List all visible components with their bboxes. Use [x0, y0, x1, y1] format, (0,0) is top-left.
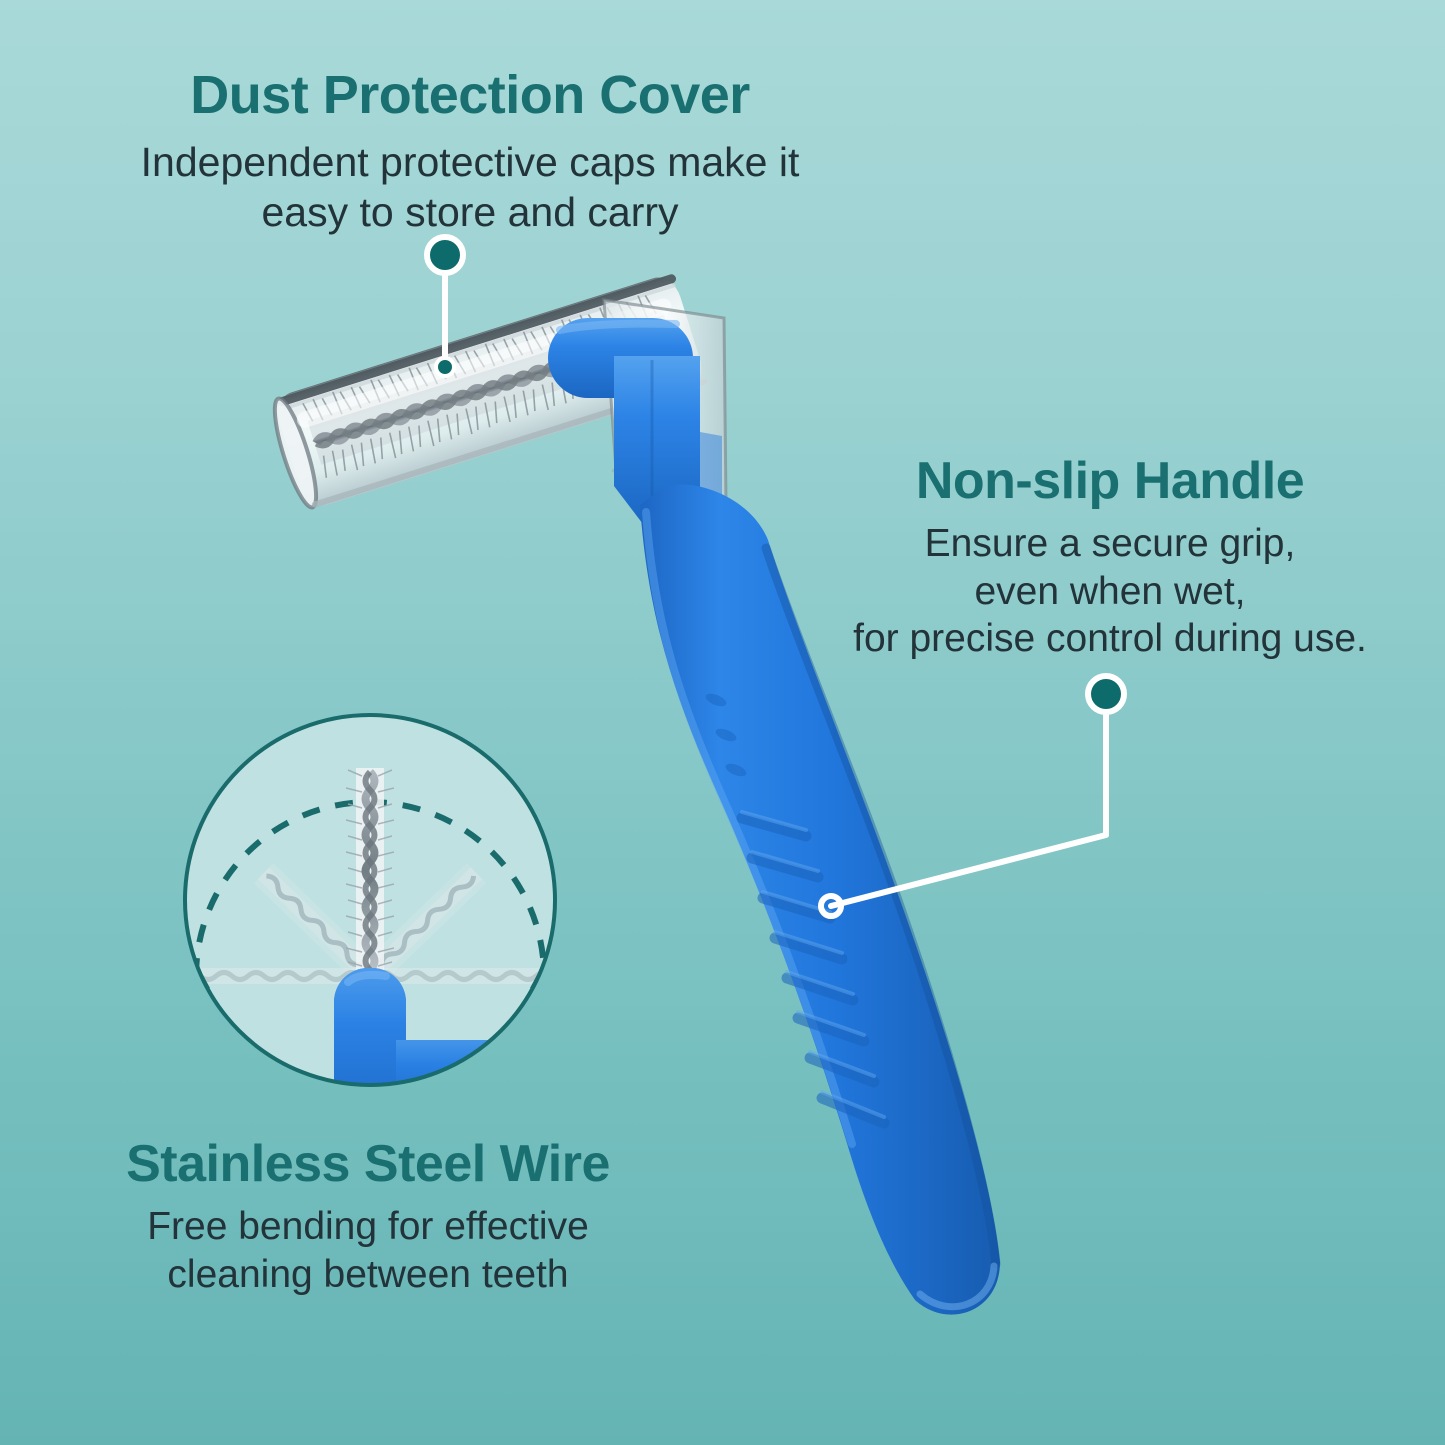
callout-dust-protection-cover: Dust Protection Cover Independent protec…: [0, 68, 940, 237]
callout-non-slip-handle: Non-slip Handle Ensure a secure grip, ev…: [775, 455, 1445, 663]
callout-stainless-steel-wire: Stainless Steel Wire Free bending for ef…: [28, 1138, 708, 1298]
wire-body-line-1: Free bending for effective: [28, 1203, 708, 1251]
dust-cover-title: Dust Protection Cover: [0, 68, 940, 123]
callout-leader-dust: [427, 237, 463, 376]
callout-leader-handle: [821, 676, 1124, 916]
infographic-canvas: Dust Protection Cover Independent protec…: [0, 0, 1445, 1445]
handle-title: Non-slip Handle: [775, 455, 1445, 508]
dust-cover-body: Independent protective caps make it easy…: [0, 137, 940, 237]
wire-body: Free bending for effective cleaning betw…: [28, 1203, 708, 1298]
handle-body-line-2: even when wet,: [775, 568, 1445, 616]
handle-body: Ensure a secure grip, even when wet, for…: [775, 520, 1445, 663]
wire-body-line-2: cleaning between teeth: [28, 1251, 708, 1299]
wire-title: Stainless Steel Wire: [28, 1138, 708, 1191]
dust-cover-body-line-2: easy to store and carry: [0, 187, 940, 237]
handle-body-line-3: for precise control during use.: [775, 615, 1445, 663]
handle-body-line-1: Ensure a secure grip,: [775, 520, 1445, 568]
dust-cover-body-line-1: Independent protective caps make it: [0, 137, 940, 187]
